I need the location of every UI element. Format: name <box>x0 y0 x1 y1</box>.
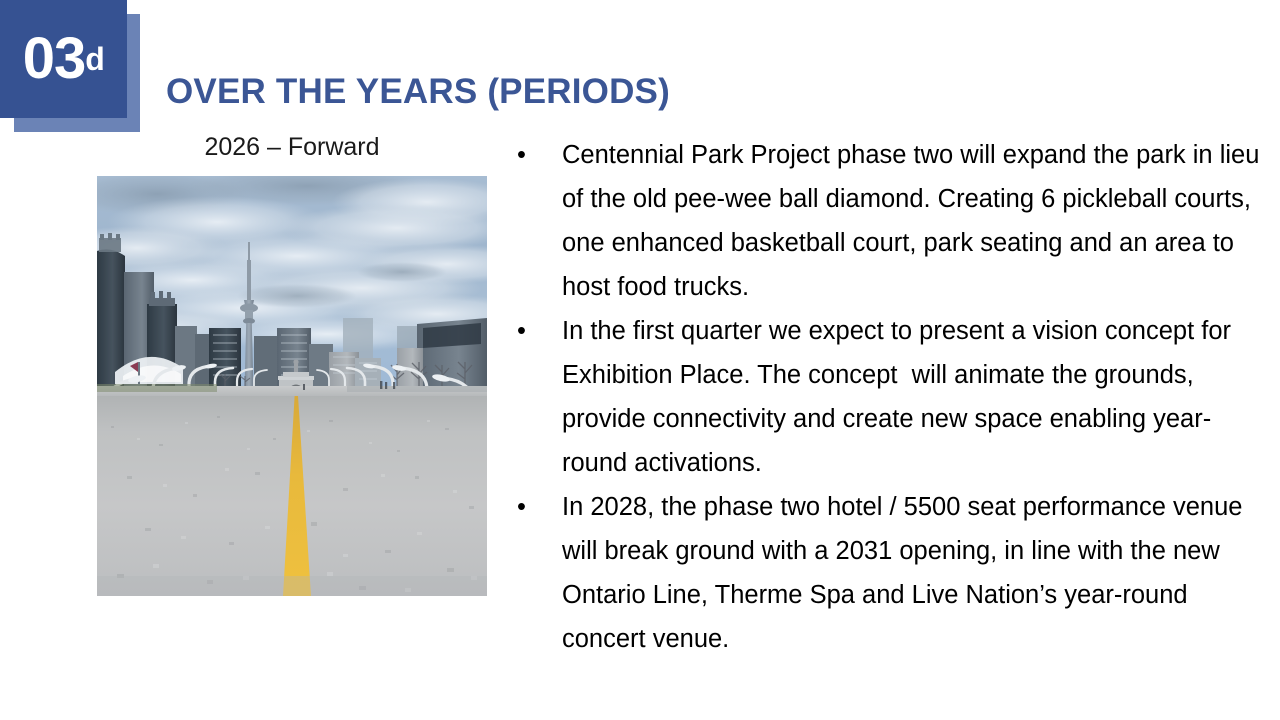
bullet-text: In 2028, the phase two hotel / 5500 seat… <box>562 485 1265 661</box>
list-item: • In 2028, the phase two hotel / 5500 se… <box>505 485 1265 661</box>
bullet-marker-icon: • <box>517 133 526 177</box>
slide-number-badge: 03d <box>0 0 142 134</box>
bullet-list: • Centennial Park Project phase two will… <box>505 133 1265 661</box>
bullet-marker-icon: • <box>517 309 526 353</box>
skyline-road-photo <box>97 176 487 596</box>
page-title: OVER THE YEARS (PERIODS) <box>166 72 670 112</box>
period-caption: 2026 – Forward <box>97 133 487 162</box>
bullet-text: In the first quarter we expect to presen… <box>562 309 1265 485</box>
badge-number: 03 <box>23 30 86 88</box>
bullet-text: Centennial Park Project phase two will e… <box>562 133 1265 309</box>
badge-suffix: d <box>85 43 104 75</box>
bullet-marker-icon: • <box>517 485 526 529</box>
list-item: • Centennial Park Project phase two will… <box>505 133 1265 309</box>
list-item: • In the first quarter we expect to pres… <box>505 309 1265 485</box>
photo-illustration <box>97 176 487 596</box>
badge-label: 03d <box>0 0 127 118</box>
